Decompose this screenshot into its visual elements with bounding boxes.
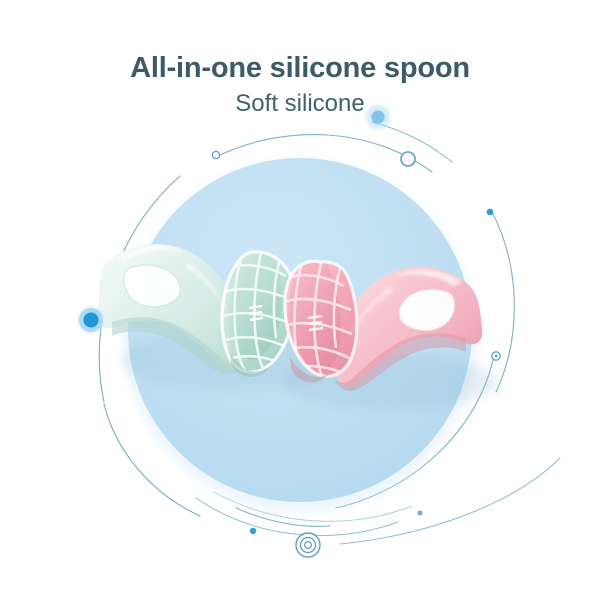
page-title: All-in-one silicone spoon (0, 52, 600, 84)
accent-dot-right-upper (487, 209, 494, 216)
accent-ring-upper-right (401, 152, 415, 166)
decorative-arc-right (492, 212, 514, 392)
page-subtitle: Soft silicone (0, 90, 600, 118)
accent-target-outer (296, 533, 320, 557)
accent-dot-left (84, 313, 99, 328)
accent-dot-bottom-left (250, 528, 256, 534)
header-block: All-in-one silicone spoon Soft silicone (0, 52, 600, 118)
product-banner: All-in-one silicone spoon Soft silicone (0, 0, 600, 600)
accent-ring-upper-left (212, 151, 219, 158)
accent-dot-bottom-right (417, 510, 422, 515)
pink-silicone-spoon (274, 260, 498, 410)
accent-ring-right-middle-core (495, 355, 498, 358)
